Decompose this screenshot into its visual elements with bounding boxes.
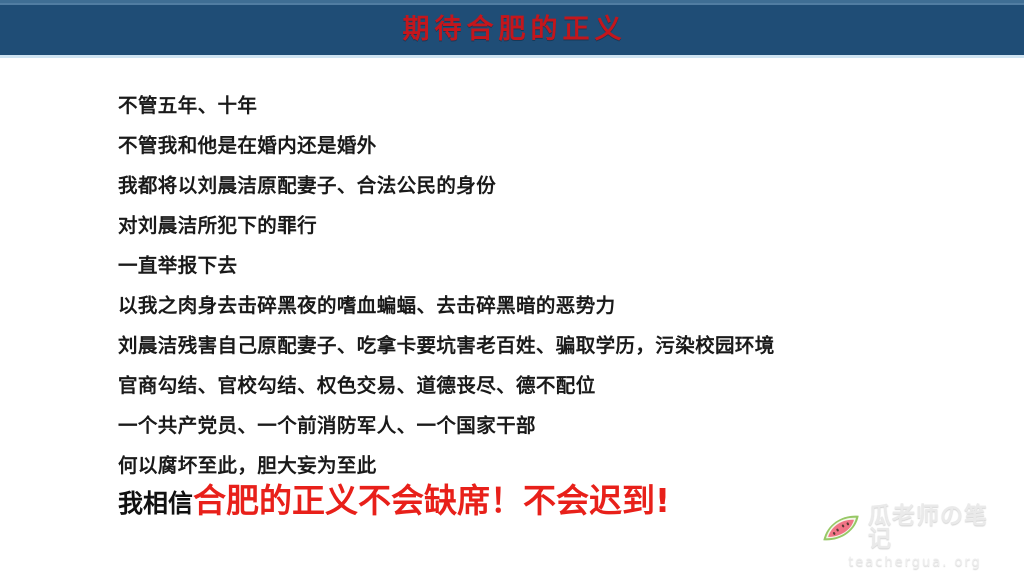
page-title: 期待合肥的正义 xyxy=(398,16,627,43)
body-text-block: 不管五年、十年 不管我和他是在婚内还是婚外 我都将以刘晨洁原配妻子、合法公民的身… xyxy=(118,86,978,486)
body-line: 对刘晨洁所犯下的罪行 xyxy=(118,206,978,246)
title-banner: 期待合肥的正义 xyxy=(0,0,1024,58)
body-line: 不管我和他是在婚内还是婚外 xyxy=(118,126,978,166)
watermark-url: teachergua. org xyxy=(848,556,982,569)
body-line: 一个共产党员、一个前消防军人、一个国家干部 xyxy=(118,406,978,446)
watermelon-slice-icon xyxy=(820,513,862,543)
body-line: 官商勾结、官校勾结、权色交易、道德丧尽、德不配位 xyxy=(118,366,978,406)
watermark: 瓜老师の笔记 teachergua. org xyxy=(820,506,1010,568)
conclusion-lead-text: 我相信 xyxy=(118,484,193,520)
watermark-row: 瓜老师の笔记 xyxy=(820,505,1010,551)
body-line: 我都将以刘晨洁原配妻子、合法公民的身份 xyxy=(118,166,978,206)
conclusion-emphasis-text: 合肥的正义不会缺席！不会迟到! xyxy=(193,484,670,517)
body-line: 以我之肉身去击碎黑夜的嗜血蝙蝠、去击碎黑暗的恶势力 xyxy=(118,286,978,326)
body-line: 何以腐坏至此，胆大妄为至此 xyxy=(118,446,978,486)
body-line: 一直举报下去 xyxy=(118,246,978,286)
body-line: 不管五年、十年 xyxy=(118,86,978,126)
watermark-name: 瓜老师の笔记 xyxy=(868,505,1010,551)
conclusion-line: 我相信 合肥的正义不会缺席！不会迟到! xyxy=(118,484,670,520)
body-line: 刘晨洁残害自己原配妻子、吃拿卡要坑害老百姓、骗取学历，污染校园环境 xyxy=(118,326,978,366)
slide-canvas: 期待合肥的正义 不管五年、十年 不管我和他是在婚内还是婚外 我都将以刘晨洁原配妻… xyxy=(0,0,1024,576)
